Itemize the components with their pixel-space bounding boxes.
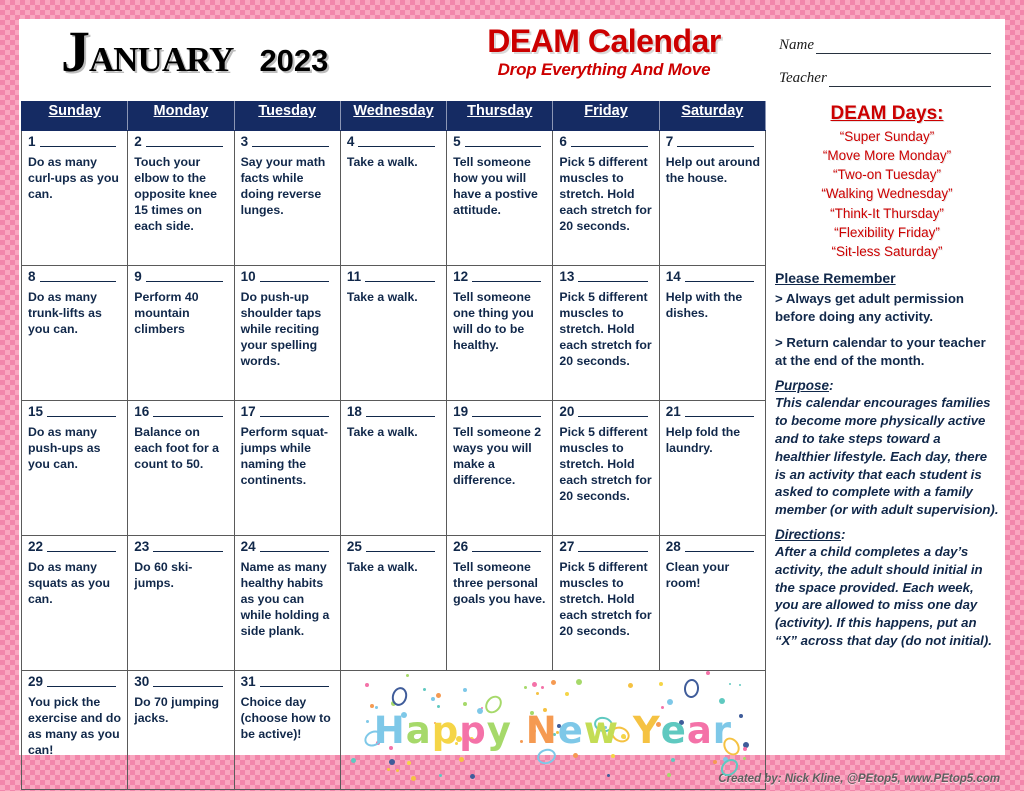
confetti-dot [437, 705, 440, 708]
deam-subtitle: Drop Everything And Move [439, 60, 769, 80]
page-title: January [61, 23, 233, 81]
confetti-dot [370, 704, 374, 708]
day-number: 20 [559, 405, 574, 419]
day-number: 14 [666, 270, 681, 284]
calendar-day-cell[interactable]: 9Perform 40 mountain climbers [128, 266, 234, 401]
name-field-row[interactable]: Name [779, 37, 991, 54]
initial-signature-line[interactable] [40, 272, 117, 282]
day-number-row: 29 [28, 675, 122, 689]
remember-item: > Return calendar to your teacher at the… [775, 334, 999, 369]
day-number-row: 19 [453, 405, 547, 419]
day-number: 7 [666, 135, 674, 149]
column-header-label: Monday [154, 103, 209, 119]
initial-signature-line[interactable] [685, 407, 754, 417]
day-activity-text: Take a walk. [347, 289, 441, 305]
day-number-row: 11 [347, 270, 441, 284]
deam-day-item: “Move More Monday” [775, 146, 999, 165]
day-number: 9 [134, 270, 142, 284]
directions-title: Directions: [775, 527, 999, 542]
calendar-day-cell[interactable]: 16Balance on each foot for a count to 50… [128, 401, 234, 536]
confetti-dot [407, 761, 411, 765]
day-number-row: 6 [559, 135, 653, 149]
day-activity-text: Pick 5 different muscles to stretch. Hol… [559, 289, 653, 370]
day-number-row: 9 [134, 270, 228, 284]
calendar-day-cell[interactable]: 24Name as many healthy habits as you can… [234, 536, 340, 671]
column-header-monday: Monday [128, 102, 234, 131]
initial-signature-line[interactable] [260, 272, 329, 282]
initial-signature-line[interactable] [260, 677, 329, 687]
initial-signature-line[interactable] [146, 272, 223, 282]
calendar-day-cell[interactable]: 1Do as many curl-ups as you can. [22, 131, 128, 266]
month-title-block: January 2023 [19, 23, 439, 81]
day-number: 8 [28, 270, 36, 284]
day-activity-text: Do as many squats as you can. [28, 559, 122, 608]
day-activity-text: Do push-up shoulder taps while reciting … [241, 289, 335, 370]
day-number-row: 3 [241, 135, 335, 149]
day-number-row: 25 [347, 540, 441, 554]
initial-signature-line[interactable] [472, 272, 541, 282]
day-number-row: 7 [666, 135, 760, 149]
confetti-dot [470, 774, 475, 779]
initial-signature-line[interactable] [472, 407, 541, 417]
confetti-dot [532, 682, 537, 687]
calendar-day-cell[interactable]: 6Pick 5 different muscles to stretch. Ho… [553, 131, 659, 266]
calendar-day-cell[interactable]: 14Help with the dishes. [659, 266, 765, 401]
day-number: 2 [134, 135, 142, 149]
day-number: 5 [453, 135, 461, 149]
day-activity-text: You pick the exercise and do as many as … [28, 694, 122, 759]
day-activity-text: Name as many healthy habits as you can w… [241, 559, 335, 640]
confetti-dot [667, 773, 671, 777]
initial-signature-line[interactable] [685, 272, 754, 282]
day-number-row: 30 [134, 675, 228, 689]
initial-signature-line[interactable] [153, 542, 222, 552]
name-label: Name [779, 37, 814, 54]
day-number-row: 2 [134, 135, 228, 149]
confetti-dot [389, 759, 395, 765]
calendar-day-cell[interactable]: 7Help out around the house. [659, 131, 765, 266]
day-number-row: 28 [666, 540, 760, 554]
day-number: 3 [241, 135, 249, 149]
initial-signature-line[interactable] [260, 407, 329, 417]
day-number: 27 [559, 540, 574, 554]
confetti-dot [659, 682, 663, 686]
day-activity-text: Take a walk. [347, 154, 441, 170]
hny-letter: N [526, 709, 558, 752]
day-activity-text: Take a walk. [347, 424, 441, 440]
day-activity-text: Balance on each foot for a count to 50. [134, 424, 228, 473]
confetti-dot [706, 671, 710, 675]
initial-signature-line[interactable] [146, 137, 223, 147]
initial-signature-line[interactable] [578, 542, 647, 552]
calendar-day-cell[interactable]: 20Pick 5 different muscles to stretch. H… [553, 401, 659, 536]
day-number-row: 20 [559, 405, 653, 419]
directions-body: After a child completes a day’s activity… [775, 543, 999, 650]
day-number: 17 [241, 405, 256, 419]
confetti-dot [463, 702, 467, 706]
calendar-sheet: January 2023 DEAM Calendar Drop Everythi… [19, 19, 1005, 755]
student-info-fields: Name Teacher [769, 23, 1005, 103]
initial-signature-line[interactable] [40, 137, 117, 147]
confetti-dot [551, 680, 556, 685]
day-number: 16 [134, 405, 149, 419]
day-number-row: 8 [28, 270, 122, 284]
initial-signature-line[interactable] [358, 137, 435, 147]
calendar-day-cell[interactable]: 25Take a walk. [340, 536, 446, 671]
hny-letter: r [713, 709, 732, 752]
calendar-day-cell[interactable]: 15Do as many push-ups as you can. [22, 401, 128, 536]
directions-colon: : [841, 527, 846, 542]
confetti-dot [366, 720, 369, 723]
column-header-saturday: Saturday [659, 102, 765, 131]
initial-signature-line[interactable] [153, 407, 222, 417]
day-number-row: 24 [241, 540, 335, 554]
day-number-row: 23 [134, 540, 228, 554]
initial-signature-line[interactable] [366, 407, 435, 417]
confetti-dot [628, 683, 633, 688]
day-activity-text: Pick 5 different muscles to stretch. Hol… [559, 424, 653, 505]
confetti-dot [576, 679, 582, 685]
confetti-dot [739, 714, 743, 718]
calendar-day-cell[interactable]: 31Choice day (choose how to be active)! [234, 671, 340, 790]
info-sidebar: DEAM Days: “Super Sunday”“Move More Mond… [766, 101, 1005, 759]
confetti-dot [743, 757, 746, 760]
calendar-day-cell[interactable]: 19Tell someone 2 ways you will make a di… [447, 401, 553, 536]
calendar-day-cell[interactable]: 30Do 70 jumping jacks. [128, 671, 234, 790]
name-input-line[interactable] [816, 42, 991, 54]
day-activity-text: Perform 40 mountain climbers [134, 289, 228, 338]
day-number: 19 [453, 405, 468, 419]
day-activity-text: Tell someone how you will have a postive… [453, 154, 547, 219]
calendar-table: SundayMondayTuesdayWednesdayThursdayFrid… [21, 101, 766, 790]
day-activity-text: Tell someone one thing you will do to be… [453, 289, 547, 354]
calendar-day-cell[interactable]: 27Pick 5 different muscles to stretch. H… [553, 536, 659, 671]
deam-day-item: “Think-It Thursday” [775, 204, 999, 223]
please-remember-title: Please Remember [775, 270, 999, 286]
streamer-curl [683, 678, 700, 698]
confetti-dot [387, 768, 390, 771]
confetti-dot [667, 699, 673, 705]
day-number: 6 [559, 135, 567, 149]
day-number: 23 [134, 540, 149, 554]
day-activity-text: Pick 5 different muscles to stretch. Hol… [559, 559, 653, 640]
day-number-row: 21 [666, 405, 760, 419]
day-number-row: 27 [559, 540, 653, 554]
calendar-day-cell[interactable]: 3Say your math facts while doing reverse… [234, 131, 340, 266]
initial-signature-line[interactable] [47, 542, 116, 552]
confetti-dot [396, 769, 399, 772]
day-number-row: 22 [28, 540, 122, 554]
hny-letter: p [459, 709, 487, 752]
calendar-day-cell[interactable]: 23Do 60 ski-jumps. [128, 536, 234, 671]
calendar-day-cell[interactable]: 29You pick the exercise and do as many a… [22, 671, 128, 790]
confetti-dot [607, 774, 610, 777]
day-number: 29 [28, 675, 43, 689]
confetti-dot [739, 684, 741, 686]
hny-letter: w [584, 709, 619, 752]
day-number: 11 [347, 270, 361, 284]
calendar-day-cell[interactable]: 4Take a walk. [340, 131, 446, 266]
initial-signature-line[interactable] [677, 137, 754, 147]
day-number-row: 16 [134, 405, 228, 419]
confetti-dot [406, 674, 409, 677]
initial-signature-line[interactable] [260, 542, 329, 552]
day-number: 24 [241, 540, 256, 554]
day-number-row: 12 [453, 270, 547, 284]
calendar-day-cell[interactable]: 8Do as many trunk-lifts as you can. [22, 266, 128, 401]
confetti-dot [719, 698, 725, 704]
deam-days-list: “Super Sunday”“Move More Monday”“Two-on … [775, 127, 999, 261]
initial-signature-line[interactable] [153, 677, 222, 687]
purpose-body: This calendar encourages families to bec… [775, 394, 999, 519]
day-activity-text: Choice day (choose how to be active)! [241, 694, 335, 743]
confetti-dot [713, 760, 717, 764]
year-label: 2023 [259, 43, 328, 79]
day-activity-text: Perform squat-jumps while naming the con… [241, 424, 335, 489]
day-number: 26 [453, 540, 468, 554]
page-body: SundayMondayTuesdayWednesdayThursdayFrid… [19, 101, 1005, 759]
happy-new-year-graphic-cell: Happy New Year [340, 671, 765, 790]
initial-signature-line[interactable] [685, 542, 754, 552]
day-number: 28 [666, 540, 681, 554]
day-number: 22 [28, 540, 43, 554]
column-header-label: Tuesday [258, 103, 316, 119]
teacher-field-row[interactable]: Teacher [779, 70, 991, 87]
confetti-dot [423, 688, 426, 691]
calendar-week-row: 22Do as many squats as you can.23Do 60 s… [22, 536, 766, 671]
confetti-dot [565, 692, 569, 696]
calendar-day-cell[interactable]: 10Do push-up shoulder taps while recitin… [234, 266, 340, 401]
confetti-dot [463, 688, 467, 692]
column-header-label: Friday [584, 103, 628, 119]
day-number: 12 [453, 270, 468, 284]
purpose-colon: : [829, 378, 834, 393]
hny-letter: e [558, 709, 584, 752]
day-number: 15 [28, 405, 43, 419]
confetti-dot [541, 686, 544, 689]
calendar-day-cell[interactable]: 11Take a walk. [340, 266, 446, 401]
directions-title-text: Directions [775, 527, 841, 542]
day-activity-text: Pick 5 different muscles to stretch. Hol… [559, 154, 653, 235]
hny-letter [619, 709, 633, 752]
day-activity-text: Do as many curl-ups as you can. [28, 154, 122, 203]
deam-title: DEAM Calendar [439, 25, 769, 57]
day-activity-text: Tell someone 2 ways you will make a diff… [453, 424, 547, 489]
confetti-dot [524, 686, 527, 689]
confetti-dot [436, 693, 441, 698]
happy-new-year-icon: Happy New Year [341, 671, 765, 789]
calendar-day-cell[interactable]: 28Clean your room! [659, 536, 765, 671]
deam-branding: DEAM Calendar Drop Everything And Move [439, 23, 769, 80]
calendar-day-cell[interactable]: 2Touch your elbow to the opposite knee 1… [128, 131, 234, 266]
day-activity-text: Tell someone three personal goals you ha… [453, 559, 547, 608]
hny-letter: H [374, 709, 406, 752]
hny-letter: e [661, 709, 687, 752]
happy-new-year-text: Happy New Year [374, 709, 732, 752]
day-number-row: 26 [453, 540, 547, 554]
day-activity-text: Do 70 jumping jacks. [134, 694, 228, 726]
confetti-dot [411, 776, 416, 781]
calendar-day-cell[interactable]: 12Tell someone one thing you will do to … [447, 266, 553, 401]
day-number: 30 [134, 675, 149, 689]
remember-item: > Always get adult permission before doi… [775, 290, 999, 325]
hny-letter: Y [633, 709, 661, 752]
calendar-day-cell[interactable]: 5Tell someone how you will have a postiv… [447, 131, 553, 266]
calendar-day-cell[interactable]: 22Do as many squats as you can. [22, 536, 128, 671]
column-header-label: Wednesday [353, 103, 433, 119]
calendar-week-row: 15Do as many push-ups as you can.16Balan… [22, 401, 766, 536]
initial-signature-line[interactable] [465, 137, 542, 147]
hny-letter: a [687, 709, 713, 752]
confetti-dot [743, 747, 747, 751]
hny-letter: y [487, 709, 512, 752]
column-header-sunday: Sunday [22, 102, 128, 131]
day-activity-text: Do as many trunk-lifts as you can. [28, 289, 122, 338]
purpose-title-text: Purpose [775, 378, 829, 393]
teacher-label: Teacher [779, 70, 827, 87]
day-number: 10 [241, 270, 256, 284]
column-header-friday: Friday [553, 102, 659, 131]
hny-letter [512, 709, 526, 752]
day-number-row: 14 [666, 270, 760, 284]
confetti-dot [439, 774, 442, 777]
column-header-wednesday: Wednesday [340, 102, 446, 131]
page-banner: January 2023 DEAM Calendar Drop Everythi… [19, 19, 1005, 101]
day-number-row: 4 [347, 135, 441, 149]
calendar-day-cell[interactable]: 26Tell someone three personal goals you … [447, 536, 553, 671]
day-number: 31 [241, 675, 256, 689]
day-number-row: 10 [241, 270, 335, 284]
teacher-input-line[interactable] [829, 75, 991, 87]
column-header-label: Saturday [681, 103, 743, 119]
day-activity-text: Help fold the laundry. [666, 424, 760, 456]
day-activity-text: Do as many push-ups as you can. [28, 424, 122, 473]
confetti-dot [351, 758, 356, 763]
deam-day-item: “Walking Wednesday” [775, 184, 999, 203]
calendar-day-cell[interactable]: 13Pick 5 different muscles to stretch. H… [553, 266, 659, 401]
day-number-row: 5 [453, 135, 547, 149]
day-number-row: 1 [28, 135, 122, 149]
confetti-dot [573, 753, 578, 758]
day-number: 25 [347, 540, 362, 554]
day-activity-text: Help with the dishes. [666, 289, 760, 321]
column-header-thursday: Thursday [447, 102, 553, 131]
deam-days-title: DEAM Days: [775, 103, 999, 125]
confetti-dot [611, 754, 615, 758]
initial-signature-line[interactable] [472, 542, 541, 552]
day-activity-text: Touch your elbow to the opposite knee 15… [134, 154, 228, 235]
day-number: 1 [28, 135, 36, 149]
day-number-row: 31 [241, 675, 335, 689]
day-number-row: 17 [241, 405, 335, 419]
initial-signature-line[interactable] [366, 542, 435, 552]
day-activity-text: Help out around the house. [666, 154, 760, 186]
please-remember-list: > Always get adult permission before doi… [775, 290, 999, 369]
day-activity-text: Do 60 ski-jumps. [134, 559, 228, 591]
initial-signature-line[interactable] [47, 407, 116, 417]
initial-signature-line[interactable] [252, 137, 329, 147]
confetti-dot [459, 757, 464, 762]
confetti-dot [365, 683, 369, 687]
day-number-row: 15 [28, 405, 122, 419]
calendar-grid-wrapper: SundayMondayTuesdayWednesdayThursdayFrid… [19, 101, 766, 759]
day-number: 18 [347, 405, 362, 419]
calendar-day-cell[interactable]: 17Perform squat-jumps while naming the c… [234, 401, 340, 536]
day-number-row: 13 [559, 270, 653, 284]
calendar-week-row: 1Do as many curl-ups as you can.2Touch y… [22, 131, 766, 266]
calendar-week-row: 29You pick the exercise and do as many a… [22, 671, 766, 790]
column-header-label: Sunday [48, 103, 100, 119]
deam-day-item: “Super Sunday” [775, 127, 999, 146]
deam-day-item: “Two-on Tuesday” [775, 165, 999, 184]
column-header-label: Thursday [467, 103, 532, 119]
initial-signature-line[interactable] [47, 677, 116, 687]
calendar-header-row: SundayMondayTuesdayWednesdayThursdayFrid… [22, 102, 766, 131]
hny-letter: a [406, 709, 432, 752]
day-activity-text: Clean your room! [666, 559, 760, 591]
hny-letter: p [432, 709, 460, 752]
initial-signature-line[interactable] [571, 137, 648, 147]
calendar-week-row: 8Do as many trunk-lifts as you can.9Perf… [22, 266, 766, 401]
initial-signature-line[interactable] [578, 407, 647, 417]
day-activity-text: Take a walk. [347, 559, 441, 575]
day-number: 13 [559, 270, 574, 284]
deam-day-item: “Flexibility Friday” [775, 223, 999, 242]
day-activity-text: Say your math facts while doing reverse … [241, 154, 335, 219]
calendar-day-cell[interactable]: 18Take a walk. [340, 401, 446, 536]
calendar-body: 1Do as many curl-ups as you can.2Touch y… [22, 131, 766, 790]
confetti-dot [536, 692, 539, 695]
footer-credit: Created by: Nick Kline, @PEtop5, www.PEt… [718, 773, 1000, 785]
day-number: 4 [347, 135, 355, 149]
calendar-day-cell[interactable]: 21Help fold the laundry. [659, 401, 765, 536]
purpose-title: Purpose: [775, 378, 999, 393]
deam-day-item: “Sit-less Saturday” [775, 242, 999, 261]
confetti-dot [431, 697, 435, 701]
column-header-tuesday: Tuesday [234, 102, 340, 131]
confetti-dot [729, 683, 731, 685]
initial-signature-line[interactable] [365, 272, 435, 282]
confetti-dot [671, 758, 675, 762]
calendar-page: January 2023 DEAM Calendar Drop Everythi… [0, 0, 1024, 791]
day-number: 21 [666, 405, 681, 419]
initial-signature-line[interactable] [578, 272, 647, 282]
day-number-row: 18 [347, 405, 441, 419]
